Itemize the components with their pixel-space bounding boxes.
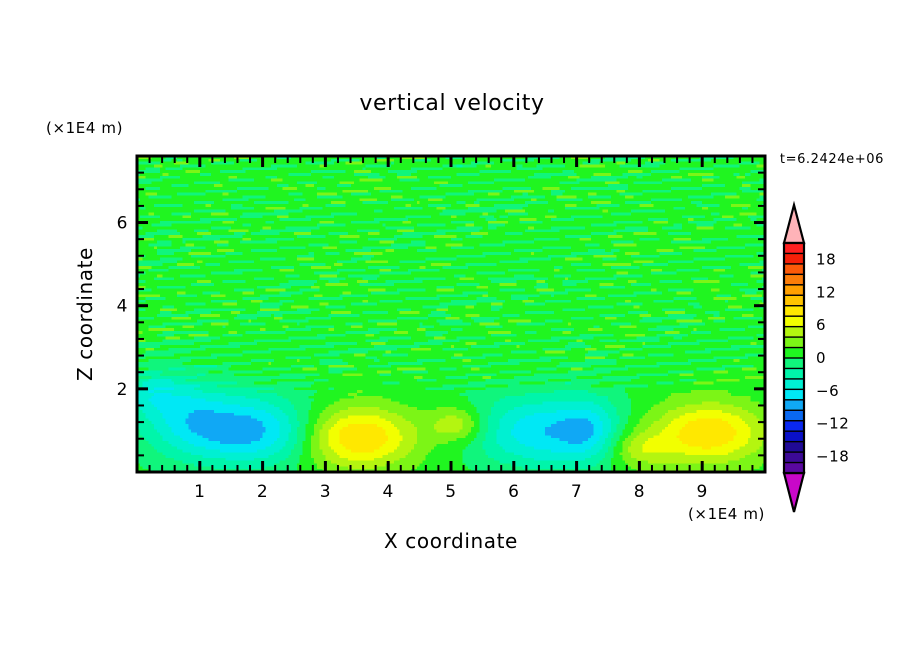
colorbar-tick-label: −12: [816, 415, 849, 433]
colorbar-band: [784, 463, 804, 474]
x-tick-label: 8: [634, 482, 645, 502]
colorbar-band: [784, 295, 804, 306]
colorbar-band: [784, 431, 804, 442]
colorbar-tick-label: 12: [816, 283, 836, 301]
y-axis-unit-label: (×1E4 m): [46, 119, 123, 137]
x-tick-label: 3: [320, 482, 331, 502]
page-title: vertical velocity: [359, 91, 544, 116]
colorbar-tick-label: 6: [816, 316, 826, 334]
colorbar-band: [784, 274, 804, 285]
colorbar-band: [784, 410, 804, 421]
colorbar-band: [784, 285, 804, 296]
colorbar-band: [784, 348, 804, 359]
colorbar-band: [784, 264, 804, 275]
x-tick-label: 7: [571, 482, 582, 502]
colorbar-band: [784, 368, 804, 379]
colorbar-band: [784, 442, 804, 453]
x-tick-label: 6: [508, 482, 519, 502]
colorbar-band: [784, 452, 804, 463]
contour-plot-field: [137, 156, 766, 473]
colorbar-band: [784, 389, 804, 400]
colorbar-band: [784, 358, 804, 369]
colorbar-band: [784, 243, 804, 254]
x-tick-label: 1: [194, 482, 205, 502]
colorbar-band: [784, 421, 804, 432]
x-tick-label: 4: [382, 482, 393, 502]
figure-root: vertical velocity (×1E4 m) t=6.2424e+06 …: [0, 0, 904, 654]
colorbar: [784, 205, 804, 512]
timestamp-annotation: t=6.2424e+06: [780, 152, 884, 167]
y-tick-label: 2: [117, 380, 128, 400]
colorbar-band: [784, 379, 804, 390]
x-axis-unit-label: (×1E4 m): [688, 505, 765, 523]
x-tick-label: 9: [696, 482, 707, 502]
colorbar-band: [784, 253, 804, 264]
colorbar-tick-label: −18: [816, 448, 849, 466]
colorbar-band: [784, 400, 804, 411]
colorbar-band: [784, 316, 804, 327]
x-axis-label: X coordinate: [384, 529, 518, 553]
vertical-velocity-figure: vertical velocity (×1E4 m) t=6.2424e+06 …: [0, 0, 904, 654]
y-axis-label: Z coordinate: [73, 247, 97, 381]
colorbar-band: [784, 327, 804, 338]
y-tick-label: 4: [117, 297, 128, 317]
x-tick-label: 2: [257, 482, 268, 502]
y-tick-label: 6: [117, 214, 128, 234]
colorbar-tick-label: 18: [816, 250, 836, 268]
colorbar-tick-label: −6: [816, 382, 839, 400]
colorbar-band: [784, 337, 804, 348]
colorbar-tick-label: 0: [816, 349, 826, 367]
colorbar-band: [784, 306, 804, 317]
x-tick-label: 5: [445, 482, 456, 502]
